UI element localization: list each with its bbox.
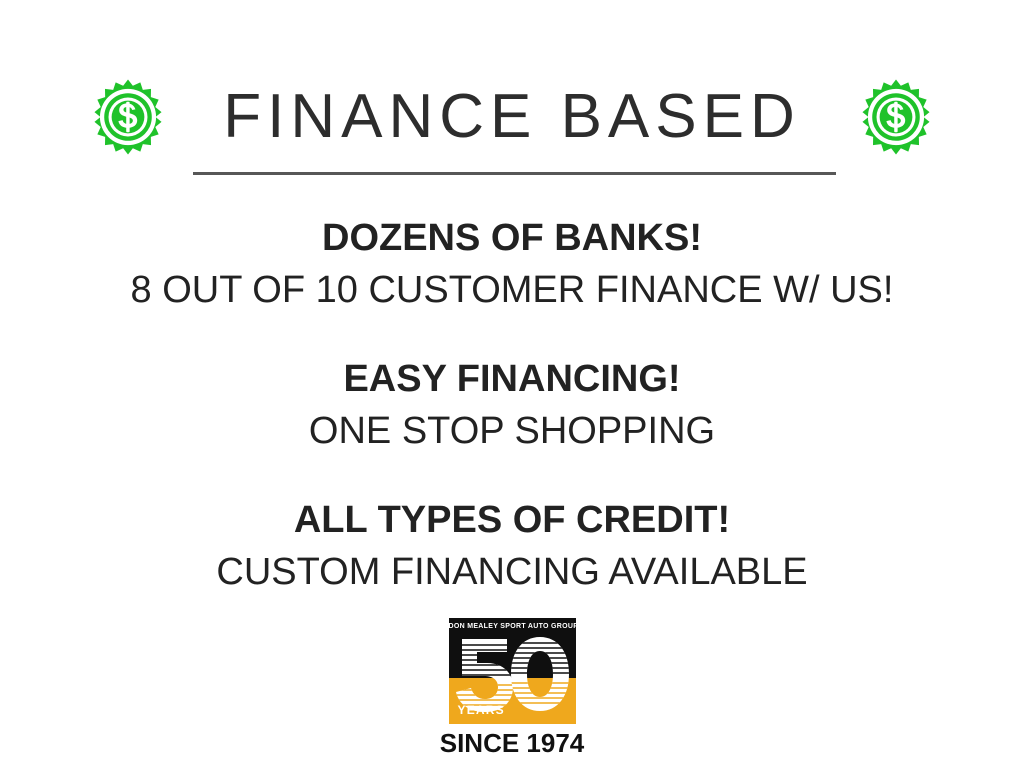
header-row: FINANCE BASED	[0, 72, 1024, 162]
finance-based-slide: FINANCE BASED	[0, 0, 1024, 768]
message-subline: CUSTOM FINANCING AVAILABLE	[0, 546, 1024, 598]
dealer-logo: DON MEALEY SPORT AUTO GROUP	[0, 618, 1024, 759]
message-group: DOZENS OF BANKS! 8 OUT OF 10 CUSTOMER FI…	[0, 212, 1024, 316]
dollar-gear-icon	[857, 78, 935, 156]
message-group: EASY FINANCING! ONE STOP SHOPPING	[0, 353, 1024, 457]
logo-brand-line: DON MEALEY SPORT AUTO GROUP	[449, 623, 576, 630]
dollar-gear-icon	[89, 78, 167, 156]
message-headline: EASY FINANCING!	[0, 353, 1024, 405]
anniversary-badge: DON MEALEY SPORT AUTO GROUP	[449, 618, 576, 724]
message-headline: ALL TYPES OF CREDIT!	[0, 494, 1024, 546]
logo-years-label: YEARS	[458, 703, 505, 717]
logo-since-label: SINCE 1974	[440, 728, 585, 759]
message-subline: ONE STOP SHOPPING	[0, 405, 1024, 457]
title-divider	[193, 172, 836, 175]
message-headline: DOZENS OF BANKS!	[0, 212, 1024, 264]
message-group: ALL TYPES OF CREDIT! CUSTOM FINANCING AV…	[0, 494, 1024, 598]
slide-header: FINANCE BASED	[0, 72, 1024, 187]
message-subline: 8 OUT OF 10 CUSTOMER FINANCE W/ US!	[0, 264, 1024, 316]
page-title: FINANCE BASED	[223, 86, 801, 148]
body-copy: DOZENS OF BANKS! 8 OUT OF 10 CUSTOMER FI…	[0, 212, 1024, 598]
